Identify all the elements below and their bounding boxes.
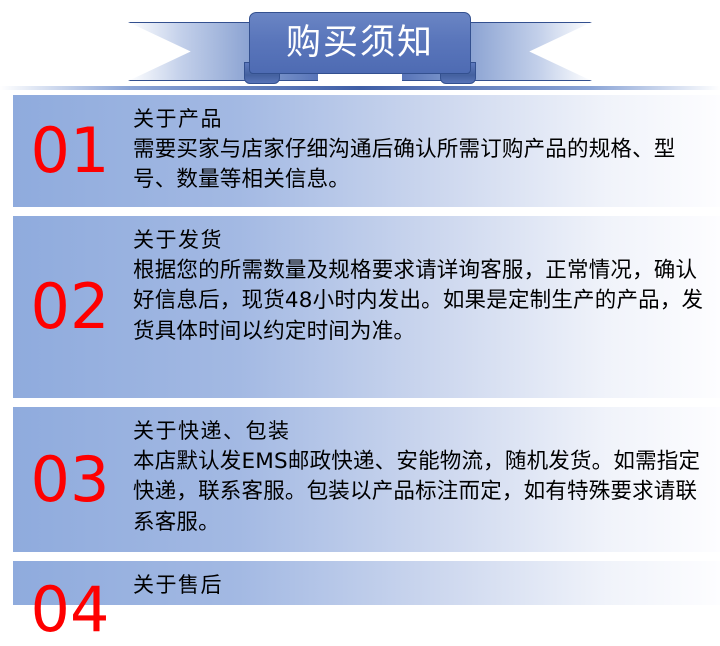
notice-section-list: 01 关于产品 需要买家与店家仔细沟通后确认所需订购产品的规格、型号、数量等相关… (0, 95, 720, 605)
section-number: 04 (13, 561, 133, 605)
notice-section: 03 关于快递、包装 本店默认发EMS邮政快递、安能物流，随机发货。如需指定快递… (13, 407, 720, 552)
section-number: 02 (13, 216, 133, 398)
notice-section: 02 关于发货 根据您的所需数量及规格要求请详询客服，正常情况，确认好信息后，现… (13, 216, 720, 398)
section-number: 03 (13, 407, 133, 552)
section-number: 01 (13, 95, 133, 207)
ribbon-center-plate: 购买须知 (249, 12, 471, 74)
section-heading: 关于售后 (133, 571, 706, 600)
section-body: 关于产品 需要买家与店家仔细沟通后确认所需订购产品的规格、型号、数量等相关信息。 (133, 95, 720, 196)
section-heading: 关于产品 (133, 105, 706, 134)
notice-section: 01 关于产品 需要买家与店家仔细沟通后确认所需订购产品的规格、型号、数量等相关… (13, 95, 720, 207)
section-text: 需要买家与店家仔细沟通后确认所需订购产品的规格、型号、数量等相关信息。 (133, 135, 706, 196)
section-body: 关于快递、包装 本店默认发EMS邮政快递、安能物流，随机发货。如需指定快递，联系… (133, 407, 720, 538)
page-banner: 购买须知 (0, 0, 720, 95)
banner-divider (0, 86, 720, 90)
section-text: 本店默认发EMS邮政快递、安能物流，随机发货。如需指定快递，联系客服。包装以产品… (133, 447, 706, 539)
section-body: 关于发货 根据您的所需数量及规格要求请详询客服，正常情况，确认好信息后，现货48… (133, 216, 720, 347)
notice-section: 04 关于售后 (13, 561, 720, 605)
section-body: 关于售后 (133, 561, 720, 601)
section-heading: 关于快递、包装 (133, 417, 706, 446)
section-heading: 关于发货 (133, 226, 706, 255)
section-text: 根据您的所需数量及规格要求请详询客服，正常情况，确认好信息后，现货48小时内发出… (133, 256, 706, 348)
page-title: 购买须知 (286, 26, 434, 61)
